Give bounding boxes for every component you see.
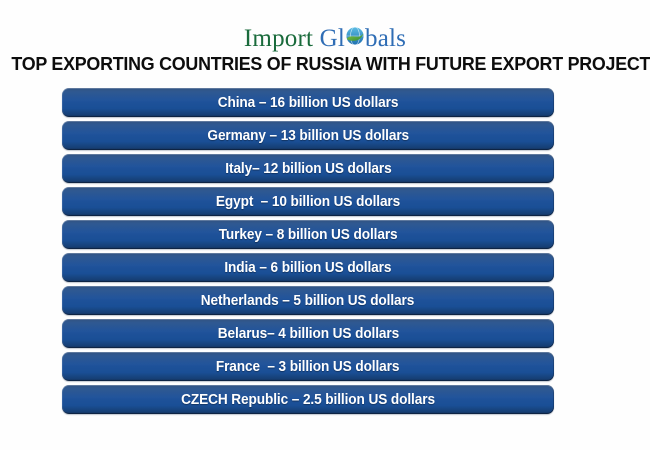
chart-bar-france: France – 3 billion US dollars — [62, 352, 554, 381]
chart-bar-india: India – 6 billion US dollars — [62, 253, 554, 282]
bar-label: Belarus– 4 billion US dollars — [217, 326, 398, 342]
globe-icon — [345, 26, 365, 46]
logo-text-bals: bals — [365, 25, 406, 52]
bar-label: China – 16 billion US dollars — [218, 95, 399, 111]
logo-text-gl: Gl — [320, 25, 345, 52]
chart-bar-czech-republic: CZECH Republic – 2.5 billion US dollars — [62, 385, 554, 414]
bar-label: Netherlands – 5 billion US dollars — [201, 293, 414, 309]
chart-bar-egypt: Egypt – 10 billion US dollars — [62, 187, 554, 216]
chart-bar-netherlands: Netherlands – 5 billion US dollars — [62, 286, 554, 315]
bar-label: India – 6 billion US dollars — [224, 260, 391, 276]
chart-bar-germany: Germany – 13 billion US dollars — [62, 121, 554, 150]
brand-logo: Import Gl bals — [0, 24, 650, 54]
chart-bar-turkey: Turkey – 8 billion US dollars — [62, 220, 554, 249]
bar-label: France – 3 billion US dollars — [216, 359, 400, 375]
bar-chart: China – 16 billion US dollars Germany – … — [62, 88, 554, 414]
chart-bar-belarus: Belarus– 4 billion US dollars — [62, 319, 554, 348]
logo-text-import: Import — [244, 25, 313, 52]
chart-bar-china: China – 16 billion US dollars — [62, 88, 554, 117]
chart-bar-italy: Italy– 12 billion US dollars — [62, 154, 554, 183]
bar-label: Turkey – 8 billion US dollars — [219, 227, 398, 243]
bar-label: CZECH Republic – 2.5 billion US dollars — [181, 392, 435, 408]
bar-label: Italy– 12 billion US dollars — [225, 161, 391, 177]
bar-label: Germany – 13 billion US dollars — [207, 128, 409, 144]
page-title: TOP EXPORTING COUNTRIES OF RUSSIA WITH F… — [11, 53, 638, 75]
infographic-page: Import Gl bals TO — [0, 0, 650, 450]
bar-label: Egypt – 10 billion US dollars — [216, 194, 400, 210]
